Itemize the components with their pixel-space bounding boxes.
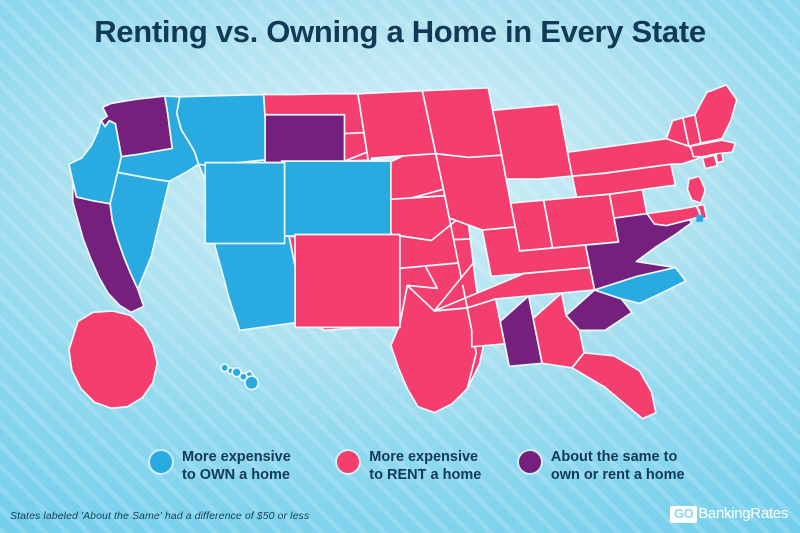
page-title: Renting vs. Owning a Home in Every State — [0, 14, 800, 50]
state-nj[interactable] — [687, 176, 705, 203]
logo-wordmark: BankingRates — [698, 506, 788, 523]
state-wy[interactable] — [265, 115, 344, 163]
legend-item-rent[interactable]: More expensive to RENT a home — [337, 448, 519, 485]
legend-swatch-same — [519, 451, 541, 473]
legend-swatch-own — [150, 451, 172, 473]
state-ms[interactable] — [467, 299, 504, 347]
state-ak[interactable] — [69, 311, 157, 408]
gobankingrates-logo[interactable]: GO BankingRates — [670, 506, 788, 523]
logo-go-mark: GO — [670, 506, 697, 523]
state-fl[interactable] — [572, 353, 656, 419]
state-wi[interactable] — [422, 88, 501, 158]
legend-label-rent: More expensive to RENT a home — [369, 448, 481, 485]
infographic-canvas: Renting vs. Owning a Home in Every State… — [0, 0, 800, 533]
state-oh[interactable] — [544, 194, 619, 248]
state-mi[interactable] — [493, 104, 572, 179]
footnote: States labeled 'About the Same' had a di… — [10, 510, 309, 522]
legend-label-same: About the same to own or rent a home — [551, 448, 685, 485]
state-ut[interactable] — [205, 163, 284, 244]
state-nm[interactable] — [295, 235, 400, 328]
legend-label-own: More expensive to OWN a home — [182, 448, 291, 485]
legend-item-own[interactable]: More expensive to OWN a home — [150, 448, 337, 485]
state-ga[interactable] — [533, 293, 584, 368]
us-map-svg — [48, 74, 766, 434]
state-ct[interactable] — [702, 155, 717, 168]
state-co[interactable] — [282, 161, 391, 236]
map-legend: More expensive to OWN a home More expens… — [150, 448, 710, 485]
state-dc[interactable] — [696, 215, 703, 222]
state-me[interactable] — [695, 85, 737, 143]
state-md[interactable] — [647, 206, 701, 225]
legend-item-same[interactable]: About the same to own or rent a home — [519, 448, 710, 485]
legend-swatch-rent — [337, 451, 359, 473]
us-choropleth-map — [48, 74, 766, 434]
state-hi-island-5[interactable] — [245, 376, 258, 389]
